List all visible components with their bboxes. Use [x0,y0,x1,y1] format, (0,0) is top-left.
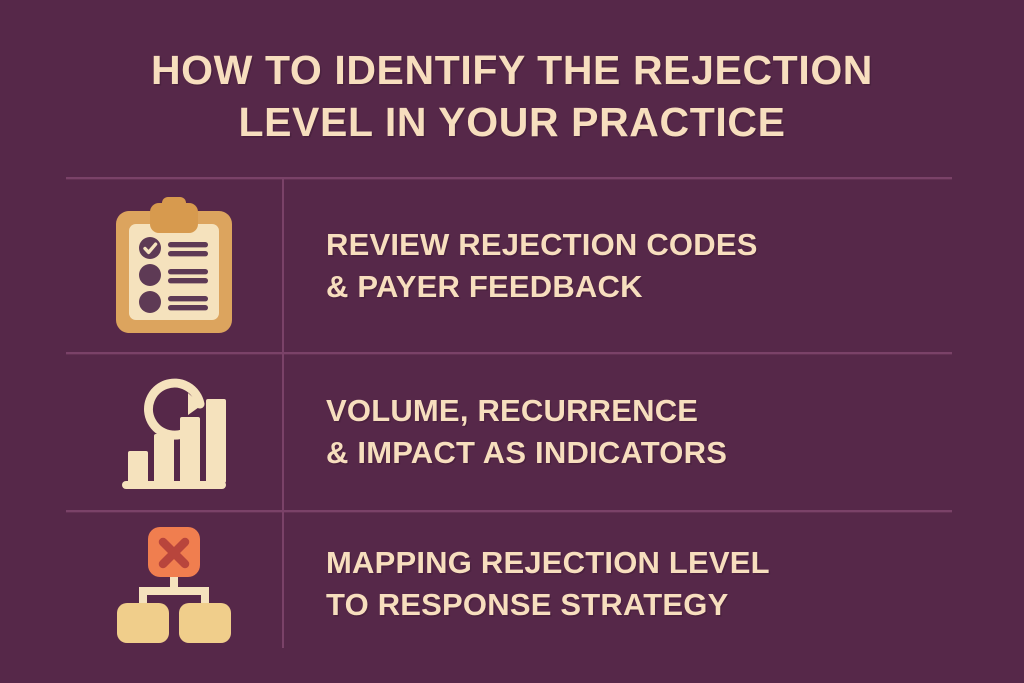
list-item: MAPPING REJECTION LEVEL TO RESPONSE STRA… [66,514,952,654]
row-1-line-2: & PAYER FEEDBACK [326,266,952,308]
row-1-icon-cell [66,197,282,335]
row-3-line-2: TO RESPONSE STRATEGY [326,584,952,626]
row-2-text: VOLUME, RECURRENCE & IMPACT AS INDICATOR… [282,390,952,474]
page-title: HOW TO IDENTIFY THE REJECTION LEVEL IN Y… [0,44,1024,148]
infographic-root: HOW TO IDENTIFY THE REJECTION LEVEL IN Y… [0,0,1024,683]
bar-chart-recurrence-icon [116,368,232,496]
row-2-icon-cell [66,368,282,496]
row-2-line-2: & IMPACT AS INDICATORS [326,432,952,474]
row-2-line-1: VOLUME, RECURRENCE [326,390,952,432]
divider-horizontal-top [66,177,952,179]
page-title-line-2: LEVEL IN YOUR PRACTICE [60,96,964,148]
list-item: VOLUME, RECURRENCE & IMPACT AS INDICATOR… [66,356,952,508]
row-1-line-1: REVIEW REJECTION CODES [326,224,952,266]
row-3-line-1: MAPPING REJECTION LEVEL [326,542,952,584]
rejection-hierarchy-icon [111,525,237,643]
row-1-text: REVIEW REJECTION CODES & PAYER FEEDBACK [282,224,952,308]
divider-horizontal-bottom [66,510,952,512]
clipboard-checklist-icon [112,197,236,335]
row-3-text: MAPPING REJECTION LEVEL TO RESPONSE STRA… [282,542,952,626]
divider-horizontal-middle [66,352,952,354]
row-3-icon-cell [66,525,282,643]
page-title-line-1: HOW TO IDENTIFY THE REJECTION [60,44,964,96]
list-item: REVIEW REJECTION CODES & PAYER FEEDBACK [66,182,952,350]
